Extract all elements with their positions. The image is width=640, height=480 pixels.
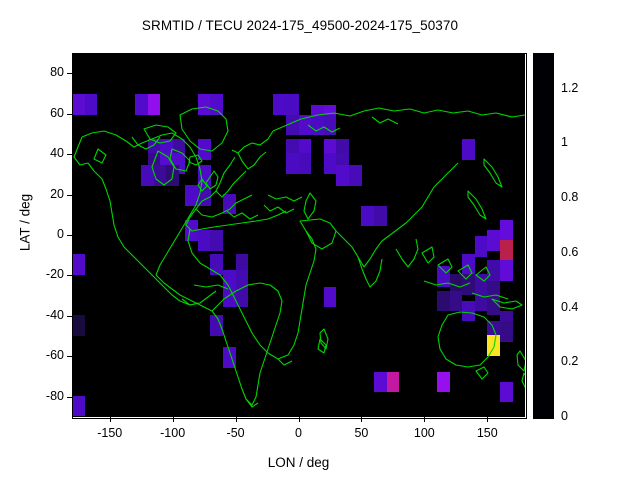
colorbar-tick-mark <box>548 253 553 254</box>
colorbar-tick-label: 1.2 <box>561 81 601 95</box>
y-tick-label: 80 <box>18 65 64 79</box>
y-tick-label: -40 <box>18 308 64 322</box>
y-tick-mark <box>67 356 72 357</box>
y-tick-mark <box>67 73 72 74</box>
y-tick-label: -20 <box>18 267 64 281</box>
figure-title: SRMTID / TECU 2024-175_49500-2024-175_50… <box>0 18 600 33</box>
x-tick-mark <box>299 417 300 422</box>
x-tick-mark <box>173 417 174 422</box>
x-tick-mark <box>424 417 425 422</box>
y-tick-mark <box>67 114 72 115</box>
colorbar-tick-mark <box>533 89 538 90</box>
colorbar-tick-label: 0.2 <box>561 354 601 368</box>
x-tick-label: 0 <box>269 426 329 440</box>
x-tick-label: -150 <box>80 426 140 440</box>
x-axis-label: LON / deg <box>72 455 525 470</box>
map-plot-area[interactable] <box>72 53 525 417</box>
colorbar-tick-mark <box>548 308 553 309</box>
colorbar-tick-mark <box>548 89 553 90</box>
colorbar-tick-label: 0 <box>561 409 601 423</box>
x-tick-label: 50 <box>331 426 391 440</box>
colorbar-tick-mark <box>548 143 553 144</box>
y-tick-label: 60 <box>18 106 64 120</box>
y-tick-mark <box>67 316 72 317</box>
colorbar-tick-mark <box>533 417 538 418</box>
colorbar-tick-label: 0.6 <box>561 245 601 259</box>
colorbar-tick-mark <box>548 362 553 363</box>
colorbar-tick-mark <box>533 308 538 309</box>
x-tick-label: 100 <box>394 426 454 440</box>
colorbar-tick-mark <box>533 143 538 144</box>
x-tick-label: -100 <box>143 426 203 440</box>
colorbar-tick-mark <box>533 362 538 363</box>
x-tick-label: -50 <box>206 426 266 440</box>
x-tick-mark <box>361 417 362 422</box>
colorbar-tick-mark <box>548 198 553 199</box>
x-tick-mark <box>487 417 488 422</box>
y-tick-mark <box>67 154 72 155</box>
colorbar-tick-mark <box>533 198 538 199</box>
y-tick-label: -60 <box>18 348 64 362</box>
colorbar-tick-label: 0.8 <box>561 190 601 204</box>
y-tick-label: 40 <box>18 146 64 160</box>
colorbar-gradient <box>534 54 553 418</box>
y-tick-mark <box>67 195 72 196</box>
y-tick-label: 20 <box>18 187 64 201</box>
colorbar-tick-label: 0.4 <box>561 300 601 314</box>
y-tick-label: 0 <box>18 227 64 241</box>
tec-map-figure: SRMTID / TECU 2024-175_49500-2024-175_50… <box>0 0 640 480</box>
colorbar-tick-label: 1 <box>561 135 601 149</box>
colorbar-tick-mark <box>533 253 538 254</box>
coastline-overlay <box>72 53 525 417</box>
x-tick-mark <box>110 417 111 422</box>
y-tick-mark <box>67 397 72 398</box>
y-tick-mark <box>67 235 72 236</box>
y-tick-label: -80 <box>18 389 64 403</box>
x-tick-mark <box>236 417 237 422</box>
colorbar-tick-mark <box>548 417 553 418</box>
y-tick-mark <box>67 275 72 276</box>
x-tick-label: 150 <box>457 426 517 440</box>
colorbar[interactable] <box>533 53 554 419</box>
